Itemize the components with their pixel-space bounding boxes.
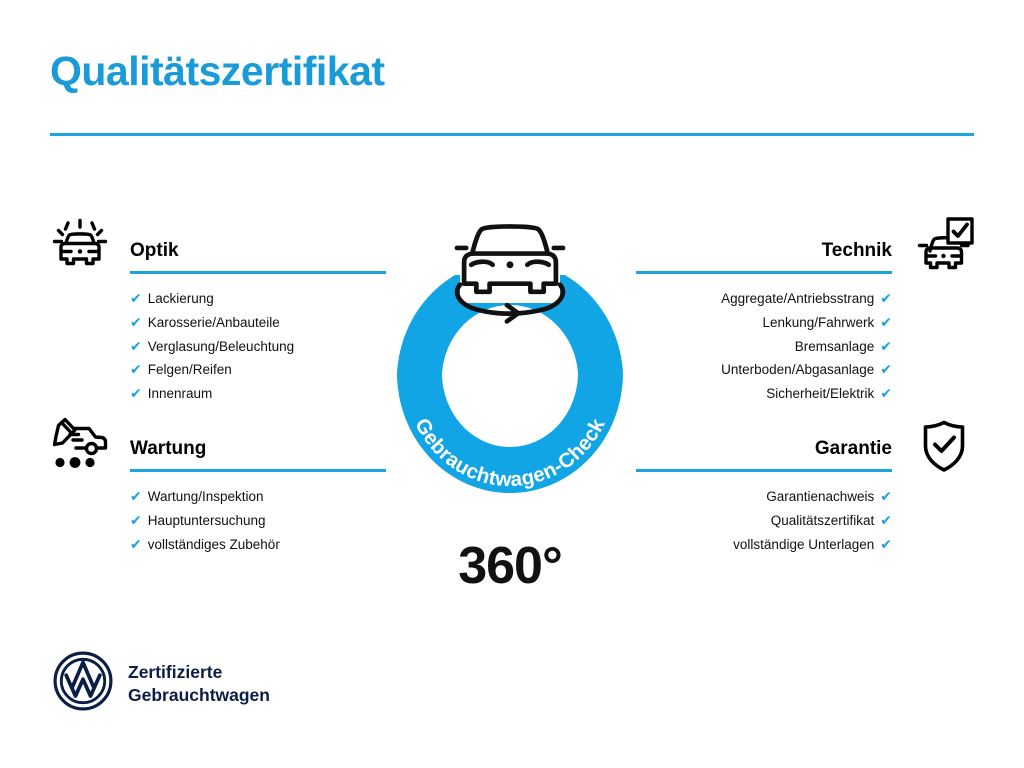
title-divider (50, 133, 974, 136)
list-item-label: Qualitätszertifikat (771, 509, 875, 533)
shield-check-icon (912, 414, 976, 478)
vw-roundel-icon (52, 650, 114, 712)
list-item: Garantienachweis✔ (636, 485, 892, 509)
check-icon: ✔ (130, 315, 142, 329)
section-garantie-title: Garantie (636, 436, 892, 462)
badge-360-check: Gebrauchtwagen-Check 360° (372, 198, 648, 498)
list-item-label: Lenkung/Fahrwerk (762, 311, 874, 335)
section-wartung-list: ✔Wartung/Inspektion ✔Hauptuntersuchung ✔… (130, 485, 386, 556)
section-technik-header: Technik (636, 238, 892, 274)
list-item: vollständige Unterlagen✔ (636, 533, 892, 557)
footer-brand: ZertifizierteGebrauchtwagen (52, 650, 270, 717)
check-icon: ✔ (880, 489, 892, 503)
page-title: Qualitätszertifikat (50, 48, 385, 95)
check-icon: ✔ (130, 537, 142, 551)
check-icon: ✔ (880, 513, 892, 527)
section-optik: Optik ✔Lackierung ✔Karosserie/Anbauteile… (130, 238, 386, 406)
list-item-label: Karosserie/Anbauteile (148, 311, 280, 335)
list-item-label: Innenraum (148, 382, 213, 406)
list-item-label: Hauptuntersuchung (148, 509, 266, 533)
check-icon: ✔ (130, 386, 142, 400)
list-item: Unterboden/Abgasanlage✔ (636, 358, 892, 382)
list-item: Sicherheit/Elektrik✔ (636, 382, 892, 406)
check-icon: ✔ (130, 513, 142, 527)
section-wartung-header: Wartung (130, 436, 386, 472)
check-icon: ✔ (880, 537, 892, 551)
car-rotate-icon (457, 226, 563, 321)
list-item-label: Garantienachweis (766, 485, 874, 509)
section-technik-title: Technik (636, 238, 892, 264)
list-item: ✔Wartung/Inspektion (130, 485, 386, 509)
brand-line-2: Gebrauchtwagen (128, 685, 270, 705)
list-item: ✔vollständiges Zubehör (130, 533, 386, 557)
list-item-label: Bremsanlage (795, 335, 875, 359)
section-garantie: Garantie Garantienachweis✔ Qualitätszert… (636, 436, 892, 556)
section-technik-divider (636, 271, 892, 274)
check-icon: ✔ (880, 291, 892, 305)
list-item-label: Sicherheit/Elektrik (766, 382, 874, 406)
check-icon: ✔ (130, 339, 142, 353)
section-optik-title: Optik (130, 238, 386, 264)
list-item: ✔Felgen/Reifen (130, 358, 386, 382)
section-optik-header: Optik (130, 238, 386, 274)
section-wartung-divider (130, 469, 386, 472)
list-item: Qualitätszertifikat✔ (636, 509, 892, 533)
check-icon: ✔ (880, 315, 892, 329)
check-icon: ✔ (880, 386, 892, 400)
list-item: Aggregate/Antriebsstrang✔ (636, 287, 892, 311)
list-item: ✔Hauptuntersuchung (130, 509, 386, 533)
certificate-page: Qualitätszertifikat Optik ✔Lackierung ✔K… (0, 0, 1024, 768)
check-icon: ✔ (880, 339, 892, 353)
list-item-label: Unterboden/Abgasanlage (721, 358, 874, 382)
list-item-label: Lackierung (148, 287, 214, 311)
section-wartung-title: Wartung (130, 436, 386, 462)
section-optik-list: ✔Lackierung ✔Karosserie/Anbauteile ✔Verg… (130, 287, 386, 406)
section-technik-list: Aggregate/Antriebsstrang✔ Lenkung/Fahrwe… (636, 287, 892, 406)
car-service-pencil-icon (48, 414, 112, 478)
volkswagen-logo (52, 650, 114, 717)
list-item: ✔Innenraum (130, 382, 386, 406)
section-optik-divider (130, 271, 386, 274)
section-garantie-divider (636, 469, 892, 472)
list-item: ✔Lackierung (130, 287, 386, 311)
list-item-label: Felgen/Reifen (148, 358, 232, 382)
check-icon: ✔ (130, 362, 142, 376)
check-icon: ✔ (130, 489, 142, 503)
list-item-label: vollständiges Zubehör (148, 533, 280, 557)
section-garantie-list: Garantienachweis✔ Qualitätszertifikat✔ v… (636, 485, 892, 556)
section-wartung: Wartung ✔Wartung/Inspektion ✔Hauptunters… (130, 436, 386, 556)
list-item: Lenkung/Fahrwerk✔ (636, 311, 892, 335)
list-item-label: Verglasung/Beleuchtung (148, 335, 294, 359)
list-item: Bremsanlage✔ (636, 335, 892, 359)
shiny-car-front-icon (48, 214, 112, 278)
list-item-label: Wartung/Inspektion (148, 485, 264, 509)
section-garantie-header: Garantie (636, 436, 892, 472)
list-item-label: Aggregate/Antriebsstrang (721, 287, 874, 311)
list-item-label: vollständige Unterlagen (733, 533, 874, 557)
check-icon: ✔ (880, 362, 892, 376)
car-checkbox-icon (912, 214, 976, 278)
badge-center-value: 360° (372, 536, 648, 596)
badge-360-graphic: Gebrauchtwagen-Check (372, 198, 648, 498)
brand-wordmark: ZertifizierteGebrauchtwagen (128, 661, 270, 707)
list-item: ✔Karosserie/Anbauteile (130, 311, 386, 335)
brand-line-1: Zertifizierte (128, 662, 222, 682)
check-icon: ✔ (130, 291, 142, 305)
list-item: ✔Verglasung/Beleuchtung (130, 335, 386, 359)
section-technik: Technik Aggregate/Antriebsstrang✔ Lenkun… (636, 238, 892, 406)
